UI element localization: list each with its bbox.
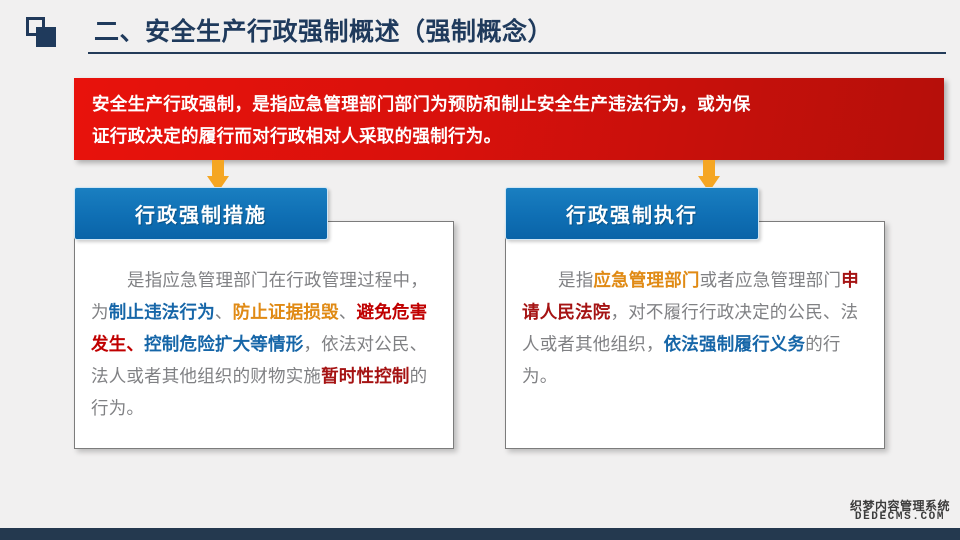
card-header-measures: 行政强制措施 <box>74 187 328 240</box>
watermark-en: DEDECMS.COM <box>850 512 950 524</box>
card-body-text: 是指应急管理部门在行政管理过程中，为制止违法行为、防止证据损毁、避免危害发生、控… <box>91 264 441 424</box>
text-run-3: 防止证据损毁 <box>233 302 339 322</box>
text-run-4: 、 <box>339 302 357 322</box>
text-run-5: 依法强制履行义务 <box>664 334 806 354</box>
arrow-stem <box>703 160 715 177</box>
definition-banner: 安全生产行政强制，是指应急管理部门部门为预防和制止安全生产违法行为，或为保 证行… <box>74 78 944 160</box>
arrow-stem <box>212 160 224 177</box>
text-run-2: 、 <box>215 302 233 322</box>
text-run-2: 或者应急管理部门 <box>700 270 842 290</box>
square-filled-shape <box>36 27 56 47</box>
card-header-enforcement: 行政强制执行 <box>505 187 759 240</box>
title-divider <box>88 52 946 54</box>
watermark: 织梦内容管理系统 DEDECMS.COM <box>850 500 950 524</box>
card-header-label: 行政强制执行 <box>566 199 698 228</box>
footer-bar <box>0 528 960 540</box>
text-run-0: 是指 <box>558 270 593 290</box>
card-body: 是指应急管理部门在行政管理过程中，为制止违法行为、防止证据损毁、避免危害发生、控… <box>74 221 454 449</box>
overlapping-squares-icon <box>26 17 60 47</box>
banner-line-2: 证行政决定的履行而对行政相对人采取的强制行为。 <box>92 120 928 152</box>
page-title: 二、安全生产行政强制概述（强制概念） <box>94 12 553 48</box>
card-header-label: 行政强制措施 <box>135 199 267 228</box>
banner-line-1: 安全生产行政强制，是指应急管理部门部门为预防和制止安全生产违法行为，或为保 <box>92 88 928 120</box>
card-body-text: 是指应急管理部门或者应急管理部门申请人民法院，对不履行行政决定的公民、法人或者其… <box>522 264 872 392</box>
slide-header: 二、安全生产行政强制概述（强制概念） <box>0 0 960 56</box>
text-run-1: 应急管理部门 <box>593 270 699 290</box>
slide-canvas: 二、安全生产行政强制概述（强制概念） 安全生产行政强制，是指应急管理部门部门为预… <box>0 0 960 540</box>
text-run-6: 、 <box>126 334 144 354</box>
text-run-9: 暂时性控制 <box>321 366 410 386</box>
text-run-7: 控制危险扩大等情形 <box>144 334 303 354</box>
text-run-1: 制止违法行为 <box>109 302 215 322</box>
card-body: 是指应急管理部门或者应急管理部门申请人民法院，对不履行行政决定的公民、法人或者其… <box>505 221 885 449</box>
